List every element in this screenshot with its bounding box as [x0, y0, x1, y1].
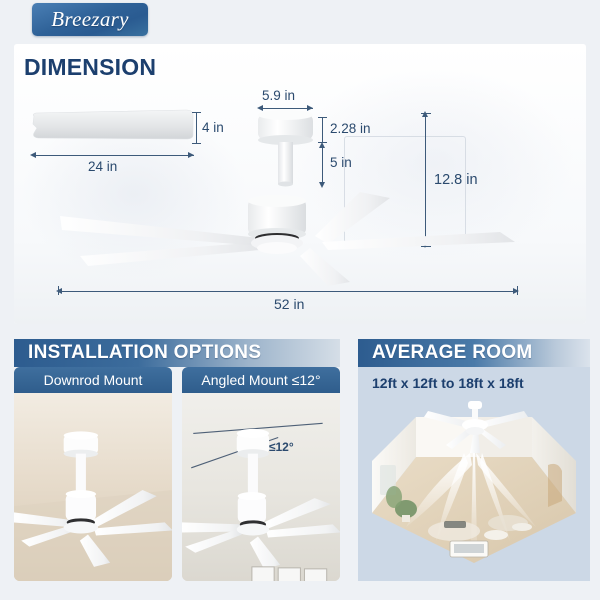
mount-option-downrod-label: Downrod Mount — [14, 367, 172, 393]
blade-span-dimension-line — [60, 291, 517, 292]
angle-annotation-label: ≤12° — [269, 440, 294, 454]
blade-span-arrow-left — [56, 288, 62, 294]
blade-length-arrow-left — [30, 152, 36, 158]
mount-option-angled-label: Angled Mount ≤12° — [182, 367, 340, 393]
installation-options-title: INSTALLATION OPTIONS — [28, 342, 261, 364]
downrod-length-dimension-line — [322, 144, 323, 186]
mount-option-downrod-photo — [14, 393, 172, 581]
average-room-size-label: 12ft x 12ft to 18ft x 18ft — [372, 375, 524, 391]
housing-diameter-arrow-left — [257, 105, 263, 111]
blade-width-label: 4 in — [202, 120, 224, 135]
dimension-title: DIMENSION — [24, 54, 156, 81]
mount-option-angled[interactable]: Angled Mount ≤12° — [182, 367, 340, 581]
housing-diameter-dimension-line — [259, 108, 313, 109]
mount-option-angled-photo: ≤12° — [182, 393, 340, 581]
isometric-room-illustration — [358, 395, 590, 581]
average-room-section: AVERAGE ROOM 12ft x 12ft to 18ft x 18ft — [358, 339, 590, 595]
average-room-body: 12ft x 12ft to 18ft x 18ft — [358, 367, 590, 581]
blade-span-arrow-right — [513, 288, 519, 294]
canopy-height-tick-top — [318, 117, 327, 118]
installation-options-body: Downrod Mount — [14, 367, 340, 581]
blade-length-arrow-right — [188, 152, 194, 158]
installation-options-header: INSTALLATION OPTIONS — [14, 339, 340, 367]
mount-option-downrod[interactable]: Downrod Mount — [14, 367, 172, 581]
brand-logo: Breezary — [32, 3, 148, 36]
average-room-title: AVERAGE ROOM — [372, 342, 533, 364]
downrod-length-label: 5 in — [330, 155, 352, 170]
canopy-height-dimension-line — [322, 117, 323, 143]
angled-fan-graphic — [182, 393, 340, 581]
total-height-arrow-up — [422, 111, 428, 117]
blade-width-tick-bottom — [192, 143, 201, 144]
canopy-height-label: 2.28 in — [330, 121, 371, 136]
blade-length-label: 24 in — [88, 159, 117, 174]
housing-diameter-arrow-right — [307, 105, 313, 111]
average-room-header: AVERAGE ROOM — [358, 339, 590, 367]
blade-length-dimension-line — [32, 155, 194, 156]
downrod-fan-graphic — [14, 393, 172, 581]
ceiling-fan-illustration — [60, 186, 520, 291]
blade-span-tick-right — [517, 286, 518, 295]
installation-options-section: INSTALLATION OPTIONS Downrod Mount — [14, 339, 340, 595]
blade-span-label: 52 in — [274, 296, 304, 312]
fan-blade-illustration — [30, 108, 195, 146]
total-height-tick-top — [421, 113, 431, 114]
downrod-arrow-up — [319, 142, 325, 148]
blade-width-dimension-line — [196, 112, 197, 144]
blade-width-tick-top — [192, 112, 201, 113]
brand-logo-text: Breezary — [51, 7, 128, 32]
housing-diameter-label: 5.9 in — [262, 88, 295, 103]
blade-span-tick-left — [58, 286, 59, 295]
